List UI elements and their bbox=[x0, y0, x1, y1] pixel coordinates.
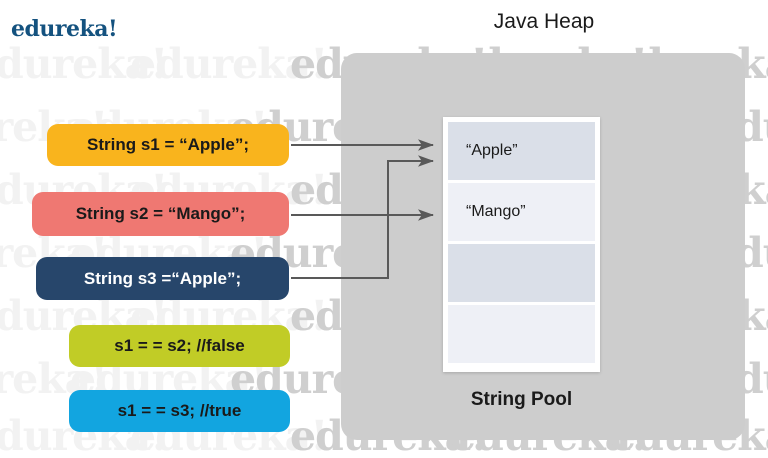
code-box-label: s1 = = s3; //true bbox=[118, 401, 242, 421]
edureka-logo: edureka! bbox=[11, 16, 117, 42]
pool-cell-mango: “Mango” bbox=[448, 183, 595, 241]
pool-cell-empty-2 bbox=[448, 305, 595, 363]
pool-cell-apple: “Apple” bbox=[448, 122, 595, 180]
java-heap-title: Java Heap bbox=[340, 10, 748, 34]
watermark-text: edureka! bbox=[130, 40, 327, 88]
pool-cell-value: “Apple” bbox=[466, 142, 518, 160]
string-pool-table: “Apple” “Mango” bbox=[443, 117, 600, 372]
pool-cell-empty-1 bbox=[448, 244, 595, 302]
pool-cell-value: “Mango” bbox=[466, 203, 526, 221]
code-box-s2: String s2 = “Mango”; bbox=[32, 192, 289, 236]
code-box-label: String s2 = “Mango”; bbox=[76, 204, 246, 224]
watermark-text: edureka! bbox=[0, 40, 167, 88]
code-box-s3: String s3 =“Apple”; bbox=[36, 257, 289, 300]
code-box-label: s1 = = s2; //false bbox=[114, 336, 244, 356]
code-box-equality-false: s1 = = s2; //false bbox=[69, 325, 290, 367]
code-box-label: String s3 =“Apple”; bbox=[84, 269, 241, 289]
string-pool-label: String Pool bbox=[443, 389, 600, 411]
code-box-label: String s1 = “Apple”; bbox=[87, 135, 249, 155]
code-box-s1: String s1 = “Apple”; bbox=[47, 124, 289, 166]
code-box-equality-true: s1 = = s3; //true bbox=[69, 390, 290, 432]
